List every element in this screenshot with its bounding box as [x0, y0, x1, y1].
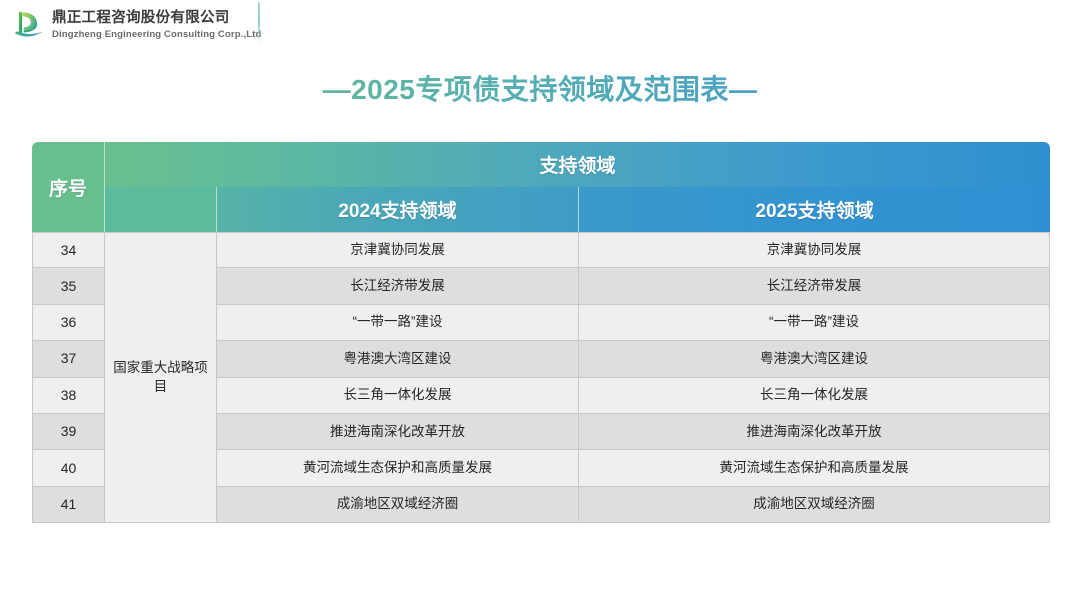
- table-body: 34 国家重大战略项目 京津冀协同发展 京津冀协同发展 35 长江经济带发展 长…: [32, 232, 1050, 523]
- cell-2024: 长江经济带发展: [217, 268, 579, 304]
- cell-2024: 黄河流域生态保护和高质量发展: [217, 450, 579, 486]
- cell-index: 36: [32, 305, 105, 341]
- support-scope-table: 序号 支持领域 2024支持领域 2025支持领域 34 国家重大战略项目 京津…: [32, 142, 1050, 523]
- cell-index: 34: [32, 232, 105, 268]
- cell-index: 38: [32, 378, 105, 414]
- table-row: 34 国家重大战略项目 京津冀协同发展 京津冀协同发展: [32, 232, 1050, 268]
- cell-2024: 京津冀协同发展: [217, 232, 579, 268]
- cell-index: 40: [32, 450, 105, 486]
- cell-index: 35: [32, 268, 105, 304]
- cell-2025: 长江经济带发展: [579, 268, 1050, 304]
- page-title: —2025专项债支持领域及范围表—: [0, 68, 1080, 108]
- table-header-row-1: 序号 支持领域: [32, 142, 1050, 187]
- header-2024-scope: 2024支持领域: [217, 187, 579, 232]
- cell-2025: 成渝地区双域经济圈: [579, 487, 1050, 523]
- company-name-en: Dingzheng Engineering Consulting Corp.,L…: [52, 28, 261, 41]
- brand-text-block: 鼎正工程咨询股份有限公司 Dingzheng Engineering Consu…: [52, 10, 261, 41]
- cell-2024: “一带一路”建设: [217, 305, 579, 341]
- header-category-blank: [105, 187, 217, 232]
- cell-2024: 成渝地区双域经济圈: [217, 487, 579, 523]
- cell-2024: 粤港澳大湾区建设: [217, 341, 579, 377]
- cell-2025: 京津冀协同发展: [579, 232, 1050, 268]
- table-header: 序号 支持领域 2024支持领域 2025支持领域: [32, 142, 1050, 232]
- brand-divider: [258, 2, 260, 44]
- cell-2025: 黄河流域生态保护和高质量发展: [579, 450, 1050, 486]
- header-index: 序号: [32, 142, 105, 232]
- header-group-support-scope: 支持领域: [105, 142, 1050, 187]
- brand-header: 鼎正工程咨询股份有限公司 Dingzheng Engineering Consu…: [0, 0, 1080, 50]
- cell-2025: 粤港澳大湾区建设: [579, 341, 1050, 377]
- cell-2025: 长三角一体化发展: [579, 378, 1050, 414]
- cell-index: 41: [32, 487, 105, 523]
- cell-index: 39: [32, 414, 105, 450]
- cell-2024: 推进海南深化改革开放: [217, 414, 579, 450]
- cell-category: 国家重大战略项目: [105, 232, 217, 523]
- cell-2024: 长三角一体化发展: [217, 378, 579, 414]
- company-name-cn: 鼎正工程咨询股份有限公司: [52, 10, 261, 27]
- support-scope-table-wrapper: 序号 支持领域 2024支持领域 2025支持领域 34 国家重大战略项目 京津…: [32, 142, 1050, 523]
- cell-2025: “一带一路”建设: [579, 305, 1050, 341]
- cell-2025: 推进海南深化改革开放: [579, 414, 1050, 450]
- leaf-d-logo-icon: [12, 8, 46, 42]
- cell-index: 37: [32, 341, 105, 377]
- table-header-row-2: 2024支持领域 2025支持领域: [32, 187, 1050, 232]
- header-2025-scope: 2025支持领域: [579, 187, 1050, 232]
